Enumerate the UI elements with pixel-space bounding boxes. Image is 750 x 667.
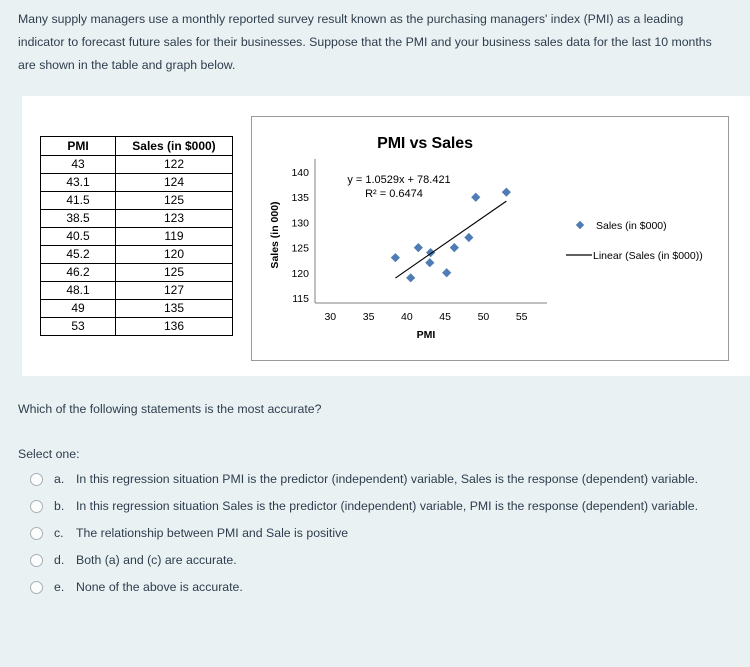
table-row: 43.1 124 — [41, 174, 233, 192]
cell-pmi: 38.5 — [41, 210, 116, 228]
cell-sales: 136 — [116, 318, 233, 336]
cell-sales: 135 — [116, 300, 233, 318]
data-point-marker — [464, 233, 473, 242]
table-header-pmi: PMI — [41, 137, 116, 156]
y-tick-label: 115 — [292, 293, 309, 305]
x-axis-title: PMI — [417, 329, 436, 341]
r-squared-label: R² = 0.6474 — [365, 188, 423, 200]
select-one-label: Select one: — [18, 447, 80, 461]
option-letter-b: b. — [43, 497, 76, 516]
table-header-sales: Sales (in $000) — [116, 137, 233, 156]
table-body: 43 122 43.1 124 41.5 125 38.5 123 40.5 1… — [41, 156, 233, 336]
option-e[interactable]: e. None of the above is accurate. — [30, 578, 730, 597]
radio-button-b[interactable] — [30, 500, 43, 513]
cell-sales: 120 — [116, 246, 233, 264]
radio-button-a[interactable] — [30, 473, 43, 486]
cell-sales: 125 — [116, 264, 233, 282]
option-letter-e: e. — [43, 578, 76, 597]
cell-sales: 122 — [116, 156, 233, 174]
radio-button-c[interactable] — [30, 527, 43, 540]
option-d[interactable]: d. Both (a) and (c) are accurate. — [30, 551, 730, 570]
option-c[interactable]: c. The relationship between PMI and Sale… — [30, 524, 730, 543]
cell-pmi: 46.2 — [41, 264, 116, 282]
cell-pmi: 45.2 — [41, 246, 116, 264]
y-tick-label: 130 — [291, 217, 309, 229]
chart-plot-area: 115120125130135140 303540455055 y = 1.05… — [252, 117, 728, 360]
table-row: 48.1 127 — [41, 282, 233, 300]
cell-sales: 123 — [116, 210, 233, 228]
question-prompt: Which of the following statements is the… — [18, 402, 321, 416]
option-b[interactable]: b. In this regression situation Sales is… — [30, 497, 730, 516]
x-tick-label: 35 — [363, 311, 375, 323]
data-point-marker — [471, 193, 480, 202]
cell-pmi: 40.5 — [41, 228, 116, 246]
intro-paragraph: Many supply managers use a monthly repor… — [18, 8, 730, 77]
table-head: PMI Sales (in $000) — [41, 137, 233, 156]
y-tick-label: 135 — [291, 192, 309, 204]
legend-marker-icon — [576, 221, 584, 229]
content-panel: PMI Sales (in $000) 43 122 43.1 124 41.5… — [22, 96, 750, 376]
legend-label-series: Sales (in $000) — [596, 220, 667, 232]
pmi-vs-sales-chart: PMI vs Sales 115120125130135140 30354045… — [251, 116, 729, 361]
data-point-marker — [406, 273, 415, 282]
table-row: 41.5 125 — [41, 192, 233, 210]
option-letter-a: a. — [43, 470, 76, 489]
cell-sales: 125 — [116, 192, 233, 210]
x-tick-label: 40 — [401, 311, 413, 323]
cell-pmi: 41.5 — [41, 192, 116, 210]
y-tick-label: 140 — [291, 167, 309, 179]
x-tick-labels: 303540455055 — [324, 311, 527, 323]
pmi-sales-table: PMI Sales (in $000) 43 122 43.1 124 41.5… — [40, 136, 233, 336]
option-text-b: In this regression situation Sales is th… — [76, 497, 698, 516]
table-row: 45.2 120 — [41, 246, 233, 264]
data-point-marker — [502, 188, 511, 197]
x-tick-label: 55 — [516, 311, 528, 323]
y-tick-labels: 115120125130135140 — [291, 167, 309, 305]
option-letter-d: d. — [43, 551, 76, 570]
cell-sales: 124 — [116, 174, 233, 192]
table-row: 40.5 119 — [41, 228, 233, 246]
table-row: 38.5 123 — [41, 210, 233, 228]
option-letter-c: c. — [43, 524, 76, 543]
table-row: 43 122 — [41, 156, 233, 174]
x-tick-label: 45 — [439, 311, 451, 323]
table-row: 49 135 — [41, 300, 233, 318]
cell-pmi: 48.1 — [41, 282, 116, 300]
data-point-marker — [442, 268, 451, 277]
table-row: 46.2 125 — [41, 264, 233, 282]
radio-button-d[interactable] — [30, 554, 43, 567]
cell-pmi: 49 — [41, 300, 116, 318]
data-point-marker — [391, 253, 400, 262]
data-point-marker — [414, 243, 423, 252]
answer-options: a. In this regression situation PMI is t… — [30, 470, 730, 605]
y-tick-label: 120 — [291, 268, 309, 280]
option-text-e: None of the above is accurate. — [76, 578, 243, 597]
x-tick-label: 30 — [324, 311, 336, 323]
legend-label-trendline: Linear (Sales (in $000)) — [593, 250, 703, 262]
regression-equation-label: y = 1.0529x + 78.421 — [347, 174, 450, 186]
cell-sales: 119 — [116, 228, 233, 246]
option-text-d: Both (a) and (c) are accurate. — [76, 551, 237, 570]
chart-legend: Sales (in $000)Linear (Sales (in $000)) — [566, 220, 703, 262]
data-point-marker — [450, 243, 459, 252]
trendline — [395, 201, 506, 278]
option-text-c: The relationship between PMI and Sale is… — [76, 524, 348, 543]
y-tick-label: 125 — [291, 243, 309, 255]
y-axis-title: Sales (in 000) — [269, 201, 281, 268]
cell-pmi: 53 — [41, 318, 116, 336]
radio-button-e[interactable] — [30, 581, 43, 594]
table-row: 53 136 — [41, 318, 233, 336]
option-a[interactable]: a. In this regression situation PMI is t… — [30, 470, 730, 489]
table-header-row: PMI Sales (in $000) — [41, 137, 233, 156]
cell-pmi: 43 — [41, 156, 116, 174]
cell-pmi: 43.1 — [41, 174, 116, 192]
option-text-a: In this regression situation PMI is the … — [76, 470, 698, 489]
x-tick-label: 50 — [478, 311, 490, 323]
data-point-marker — [425, 258, 434, 267]
cell-sales: 127 — [116, 282, 233, 300]
